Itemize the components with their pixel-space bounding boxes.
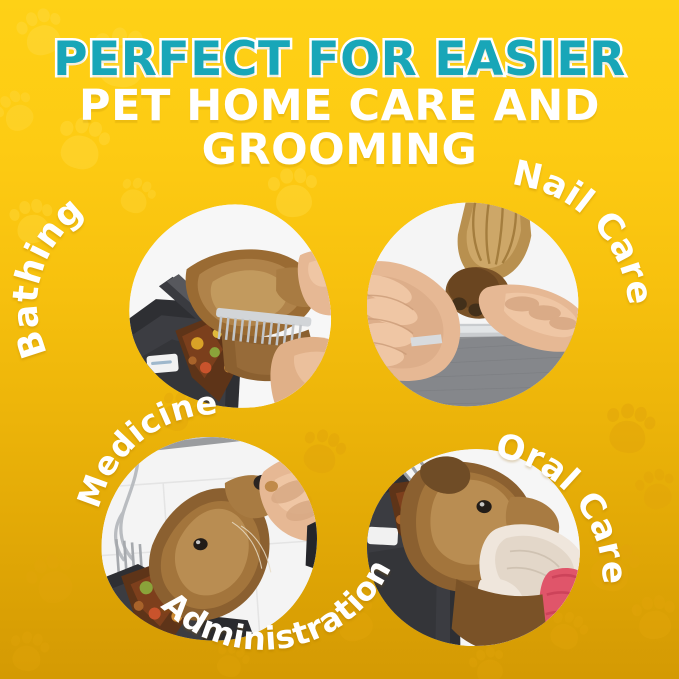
paw-print-icon [4, 628, 51, 675]
paw-print-icon [629, 593, 679, 643]
headline-line-2: PET HOME CARE AND [0, 85, 679, 128]
poster-root: PERFECT FOR EASIER PET HOME CARE AND GRO… [0, 0, 679, 679]
headline-line-3: GROOMING [0, 129, 679, 172]
photo-medicine-administration [94, 430, 324, 649]
photo-panel-bathing [120, 197, 338, 418]
photo-bathing [120, 197, 338, 418]
photo-oral-care [362, 444, 585, 652]
paw-print-icon [20, 548, 83, 611]
photo-panel-oral-care [362, 444, 585, 652]
label-bathing-text: Bathing [6, 189, 92, 363]
paw-print-icon [7, 197, 58, 248]
photo-panel-medicine-administration [94, 430, 324, 649]
paw-print-icon [580, 534, 644, 598]
photo-nail-care [357, 193, 588, 418]
headline-block: PERFECT FOR EASIER PET HOME CARE AND GRO… [0, 36, 679, 172]
paw-print-icon [465, 643, 510, 679]
photo-panel-nail-care [357, 193, 588, 418]
svg-text:Bathing: Bathing [6, 189, 92, 363]
headline-line-1: PERFECT FOR EASIER [0, 36, 679, 83]
paw-print-icon [209, 639, 253, 679]
paw-print-icon [600, 400, 658, 458]
paw-print-icon [632, 466, 679, 514]
